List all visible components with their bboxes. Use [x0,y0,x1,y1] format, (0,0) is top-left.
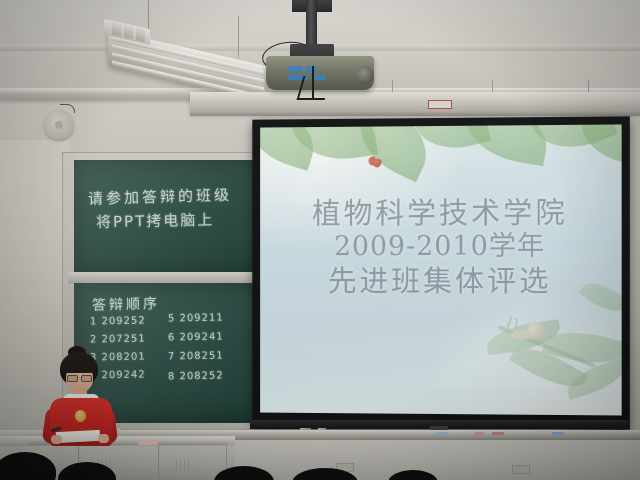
projector-lens [356,66,374,84]
podium-paper [138,441,158,445]
projector-mount-rod [306,0,317,48]
podium-seam [158,446,159,480]
valance-lip [190,110,640,116]
slide-line-2: 2009-2010学年 [260,231,622,264]
chalk-list-item: 1 209252 [90,316,146,328]
chalk-list-item: 2 207251 [90,334,146,346]
chalk-piece[interactable] [492,432,504,435]
held-papers [56,430,101,443]
glasses-icon [67,375,78,382]
chalk-list-item: 5 209211 [168,313,224,325]
chalk-list-item: 6 209241 [168,332,224,344]
glasses-icon [81,375,92,382]
chalk-list-item: 8 208252 [168,371,224,383]
sweater-emblem [75,410,86,422]
right-hand [98,434,109,443]
left-hand [51,435,62,444]
chalk-list-heading: 答辩顺序 [92,293,161,315]
butterfly-icon [368,156,381,167]
projection-screen-frame: 植物科学技术学院 2009-2010学年 先进班集体评选 [252,116,630,429]
snail-icon [526,322,545,339]
wall-plate [512,465,530,474]
chalk-list-item: 7 208251 [168,351,224,363]
slide-line-3: 先进班集体评选 [260,264,622,300]
slide-title-block: 植物科学技术学院 2009-2010学年 先进班集体评选 [260,195,622,300]
chalk-piece[interactable] [474,432,484,435]
projection-screen-surface: 植物科学技术学院 2009-2010学年 先进班集体评选 [260,124,622,415]
valance-label [428,100,452,109]
chalk-note-line-1: 请参加答辩的班级 [88,184,233,209]
hair-fringe [62,360,96,373]
presenter [38,352,122,444]
classroom-photo: 请参加答辩的班级 将PPT拷电脑上 答辩顺序 1 209252 2 207251… [0,0,640,480]
chalk-piece[interactable] [436,432,448,435]
chalk-note-line-2: 将PPT拷电脑上 [96,209,215,232]
slide-line-1: 植物科学技术学院 [260,195,622,232]
chalk-piece[interactable] [552,432,564,435]
round-wall-speaker [44,110,74,140]
